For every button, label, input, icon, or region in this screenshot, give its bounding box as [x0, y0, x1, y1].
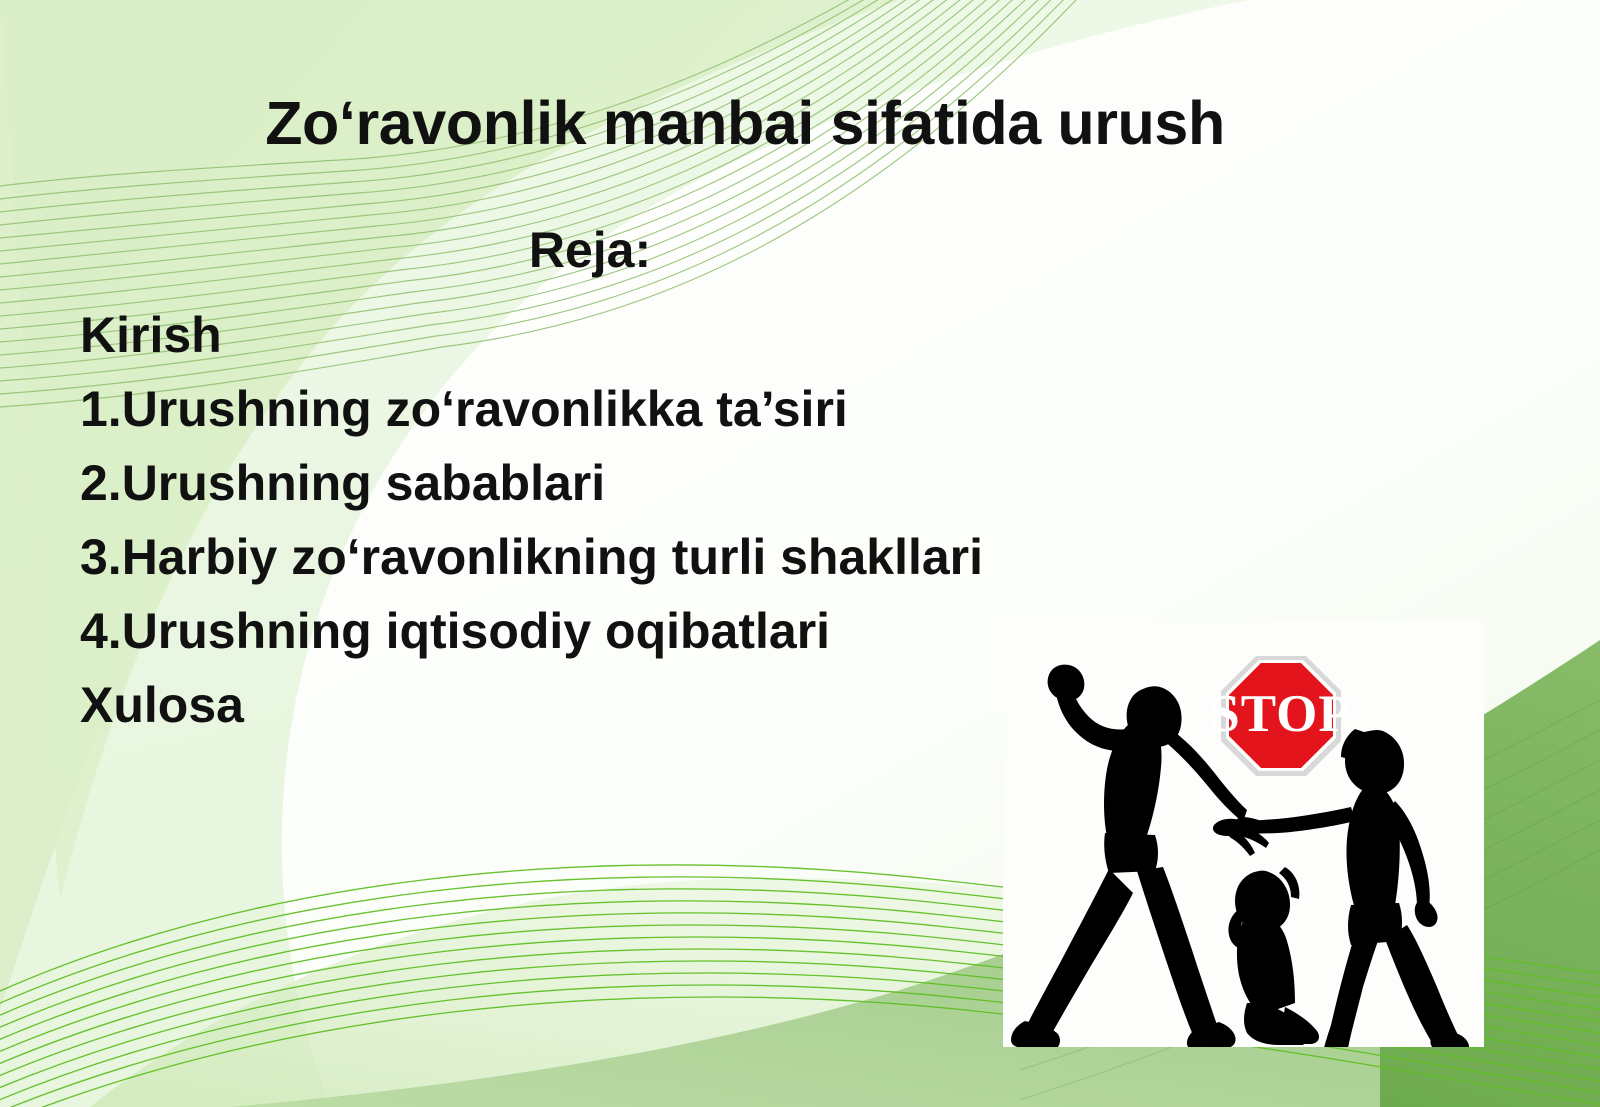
anti-violence-silhouettes-artwork: STOP [1003, 621, 1484, 1047]
list-item: 2.Urushning sabablari [80, 446, 1180, 520]
stop-sign-label: STOP [1210, 685, 1351, 743]
slide-subtitle-reja: Reja: [0, 221, 1180, 279]
list-item: 1.Urushning zo‘ravonlikka ta’siri [80, 372, 1180, 446]
list-item: 3.Harbiy zo‘ravonlikning turli shakllari [80, 520, 1180, 594]
slide-title: Zo‘ravonlik manbai sifatida urush [0, 88, 1490, 158]
list-item: Kirish [80, 298, 1180, 372]
presentation-slide: Zo‘ravonlik manbai sifatida urush Reja: … [0, 0, 1600, 1107]
violence-illustration-image: STOP [1003, 621, 1484, 1047]
